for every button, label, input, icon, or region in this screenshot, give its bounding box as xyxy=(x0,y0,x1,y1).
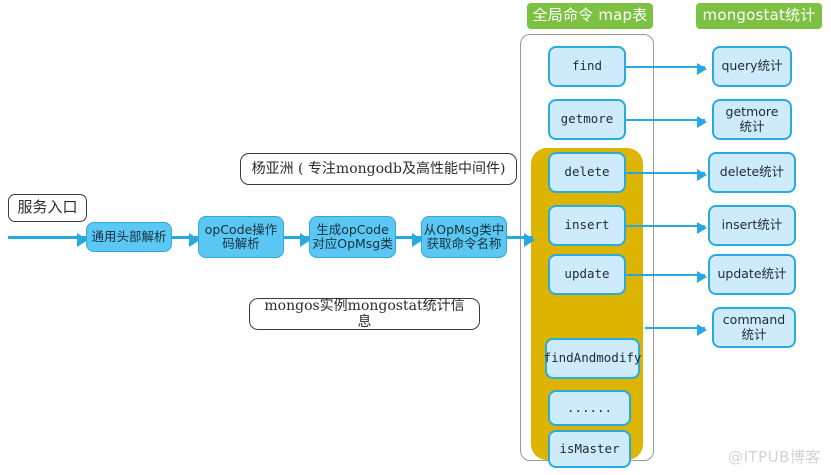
command-item-update[interactable]: update xyxy=(548,254,626,295)
pipeline-step-3[interactable]: 生成opCode 对应OpMsg类 xyxy=(309,216,396,258)
command-item-find[interactable]: find xyxy=(548,46,626,87)
arrow-update-to-update-stat xyxy=(626,274,705,276)
command-item-getmore[interactable]: getmore xyxy=(548,99,626,140)
pipeline-step-1[interactable]: 通用头部解析 xyxy=(86,222,172,252)
command-item-delete[interactable]: delete xyxy=(548,152,626,193)
annotation-author: 杨亚洲 ( 专注mongodb及高性能中间件) xyxy=(240,153,517,185)
pipeline-step-4[interactable]: 从OpMsg类中 获取命令名称 xyxy=(421,216,507,258)
arrow-find-to-query xyxy=(626,66,705,68)
arrow-others-to-command-stat xyxy=(645,327,705,329)
stat-item-delete[interactable]: delete统计 xyxy=(708,152,796,193)
arrow-entry-to-step-1 xyxy=(8,236,86,239)
command-item-ellipsis[interactable]: ...... xyxy=(548,390,631,426)
arrow-step-4-to-map xyxy=(507,236,533,239)
pipeline-step-2[interactable]: opCode操作 码解析 xyxy=(198,216,284,258)
command-item-ismaster[interactable]: isMaster xyxy=(548,430,631,468)
stat-item-getmore[interactable]: getmore 统计 xyxy=(712,99,792,140)
stat-item-update[interactable]: update统计 xyxy=(708,254,796,295)
arrow-delete-to-delete-stat xyxy=(626,172,705,174)
arrow-step-3-to-step-4 xyxy=(396,236,421,239)
service-entry-label: 服务入口 xyxy=(8,194,87,222)
stat-item-query[interactable]: query统计 xyxy=(712,46,792,87)
command-item-insert[interactable]: insert xyxy=(548,205,626,246)
arrow-step-1-to-step-2 xyxy=(172,236,198,239)
stat-item-command[interactable]: command 统计 xyxy=(712,307,796,348)
command-item-findandmodify[interactable]: findAndmodify xyxy=(545,338,640,379)
annotation-subtitle: mongos实例mongostat统计信息 xyxy=(249,298,480,330)
arrow-getmore-to-getmore-stat xyxy=(626,119,705,121)
stat-item-insert[interactable]: insert统计 xyxy=(708,205,796,246)
arrow-insert-to-insert-stat xyxy=(626,225,705,227)
header-mongostat: mongostat统计 xyxy=(696,3,822,29)
diagram-canvas: 全局命令 map表 mongostat统计 服务入口 通用头部解析 opCode… xyxy=(0,0,831,475)
header-command-map: 全局命令 map表 xyxy=(527,3,653,29)
arrow-step-2-to-step-3 xyxy=(284,236,309,239)
watermark-label: @ITPUB博客 xyxy=(728,446,821,467)
